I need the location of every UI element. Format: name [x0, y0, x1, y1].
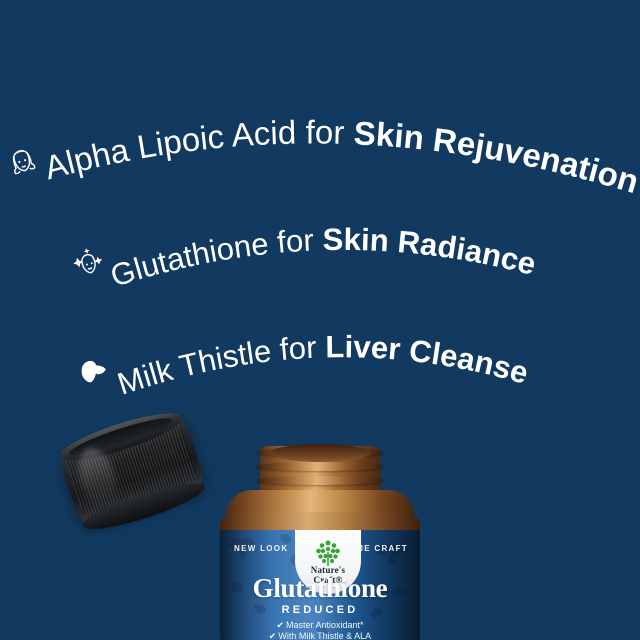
liver-icon: [73, 355, 114, 396]
product-promo-image: Alpha Lipoic Acid for Skin Rejuvenation …: [0, 0, 640, 640]
check-icon: ✔: [276, 620, 284, 630]
bottle-label: NEW LOOK SAME CRAFT Nat: [220, 530, 420, 640]
product-bullet-2-text: With Milk Thistle & ALA: [278, 631, 371, 640]
tag-new-look: NEW LOOK: [234, 544, 288, 553]
product-variant: REDUCED: [220, 604, 420, 616]
natures-craft-emblem-icon: [313, 538, 343, 568]
product-bullet-2: ✔With Milk Thistle & ALA: [220, 631, 420, 640]
bottle-thread-2: [256, 462, 384, 471]
product-bullet-1: ✔Master Antioxidant*: [220, 620, 420, 631]
bottle-thread-3: [256, 476, 384, 485]
supplement-bottle: NEW LOOK SAME CRAFT Nat: [212, 446, 428, 640]
check-icon: ✔: [269, 631, 277, 640]
product-bullet-1-text: Master Antioxidant*: [286, 620, 364, 630]
bottle-mouth-opening: [270, 444, 370, 462]
product-name: Glutathione: [220, 574, 420, 602]
